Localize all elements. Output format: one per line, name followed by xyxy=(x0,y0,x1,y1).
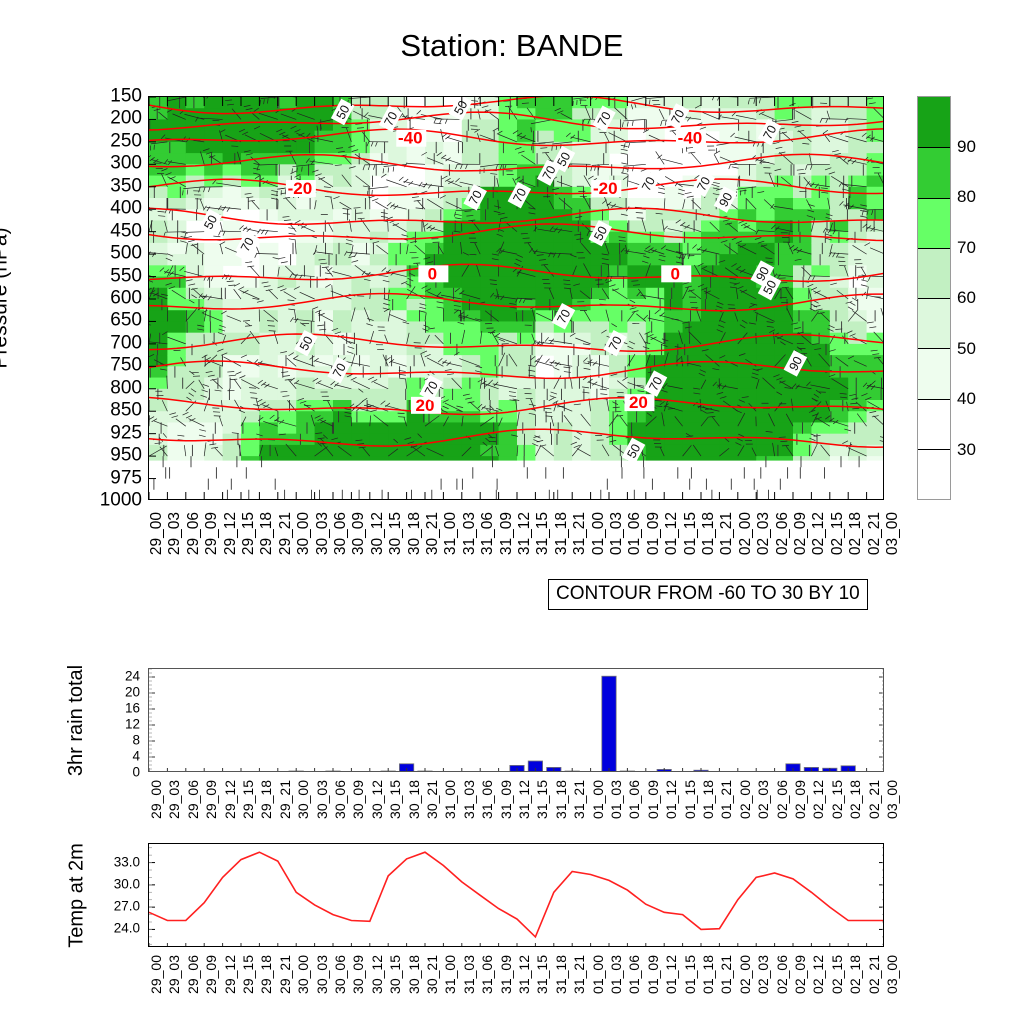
time-tick: 02_15 xyxy=(829,512,847,555)
pressure-tick-labels: 1502002503003504004505005506006507007508… xyxy=(0,96,142,500)
time-tick: 31_09 xyxy=(498,780,514,819)
time-tick: 02_06 xyxy=(774,780,790,819)
rain-tick: 20 xyxy=(125,685,140,700)
meteogram-page: Station: BANDE Pressure (hPa) 1502002503… xyxy=(0,0,1024,1024)
time-tick: 29_06 xyxy=(185,512,203,555)
time-tick: 31_12 xyxy=(516,780,532,819)
time-tick: 02_21 xyxy=(866,512,884,555)
time-tick: 02_03 xyxy=(755,955,771,994)
time-tick: 02_21 xyxy=(866,780,882,819)
time-tick: 31_18 xyxy=(553,512,571,555)
svg-text:0: 0 xyxy=(428,264,437,283)
rain-tick: 0 xyxy=(132,765,140,780)
colorbar-tick: 40 xyxy=(957,389,976,409)
pressure-tick: 200 xyxy=(110,109,142,128)
temp-tick-labels: 24.027.030.033.0 xyxy=(80,843,144,947)
colorbar-tick: 80 xyxy=(957,187,976,207)
time-tick: 31_09 xyxy=(498,512,516,555)
profile-time-axis-labels: 29_0029_0329_0629_0929_1229_1529_1829_21… xyxy=(148,508,884,588)
colorbar-cell xyxy=(918,449,950,499)
time-tick: 29_18 xyxy=(258,512,276,555)
time-tick: 02_12 xyxy=(810,780,826,819)
colorbar-cell xyxy=(918,97,950,147)
time-tick: 01_15 xyxy=(682,512,700,555)
svg-text:0: 0 xyxy=(671,264,680,283)
pressure-tick: 550 xyxy=(110,266,142,285)
time-tick: 29_00 xyxy=(148,512,166,555)
time-tick: 29_06 xyxy=(185,780,201,819)
time-tick: 30_15 xyxy=(387,780,403,819)
rain-tick: 12 xyxy=(125,717,140,732)
time-tick: 29_09 xyxy=(203,512,221,555)
time-tick: 30_03 xyxy=(314,955,330,994)
time-tick: 01_09 xyxy=(645,512,663,555)
humidity-colorbar xyxy=(917,96,951,500)
temp-plot-frame xyxy=(148,843,884,947)
time-tick: 02_12 xyxy=(810,512,828,555)
colorbar-tick: 70 xyxy=(957,238,976,258)
time-tick: 31_06 xyxy=(479,780,495,819)
time-tick: 29_12 xyxy=(222,955,238,994)
time-tick: 31_00 xyxy=(442,512,460,555)
colorbar-tick: 50 xyxy=(957,339,976,359)
pressure-tick: 700 xyxy=(110,333,142,352)
time-tick: 30_15 xyxy=(387,955,403,994)
pressure-tick: 150 xyxy=(110,87,142,106)
pressure-tick: 600 xyxy=(110,289,142,308)
time-tick: 02_12 xyxy=(810,955,826,994)
time-tick: 30_09 xyxy=(350,780,366,819)
temp-tick: 24.0 xyxy=(114,921,140,936)
pressure-tick: 350 xyxy=(110,176,142,195)
time-tick: 30_06 xyxy=(332,512,350,555)
time-tick: 01_12 xyxy=(663,512,681,555)
time-tick: 01_03 xyxy=(608,780,624,819)
pressure-tick: 1000 xyxy=(100,491,142,510)
time-tick: 31_00 xyxy=(442,780,458,819)
time-tick: 30_21 xyxy=(424,512,442,555)
svg-text:20: 20 xyxy=(629,393,648,412)
temp-tick: 33.0 xyxy=(114,854,140,869)
time-tick: 30_18 xyxy=(406,955,422,994)
time-tick: 29_18 xyxy=(258,780,274,819)
time-tick: 02_15 xyxy=(829,780,845,819)
time-tick: 01_21 xyxy=(718,780,734,819)
time-tick: 02_18 xyxy=(847,955,863,994)
time-tick: 02_06 xyxy=(774,512,792,555)
temp-panel xyxy=(148,843,884,947)
colorbar-cell xyxy=(918,399,950,449)
colorbar-cell xyxy=(918,198,950,248)
temp-chart-svg xyxy=(149,844,884,947)
time-tick: 30_18 xyxy=(406,780,422,819)
time-tick: 02_09 xyxy=(792,512,810,555)
time-tick: 01_06 xyxy=(626,512,644,555)
time-tick: 30_18 xyxy=(406,512,424,555)
profile-chart-svg: -40-40-20-200020205050505050505050507070… xyxy=(149,97,884,500)
time-tick: 01_09 xyxy=(645,780,661,819)
time-tick: 29_00 xyxy=(148,955,164,994)
time-tick: 02_03 xyxy=(755,512,773,555)
pressure-tick: 850 xyxy=(110,401,142,420)
time-tick: 31_06 xyxy=(479,512,497,555)
time-tick: 30_00 xyxy=(295,780,311,819)
time-tick: 29_03 xyxy=(166,955,182,994)
time-tick: 02_18 xyxy=(847,780,863,819)
profile-plot-frame: -40-40-20-200020205050505050505050507070… xyxy=(148,96,884,500)
pressure-tick: 450 xyxy=(110,221,142,240)
pressure-tick: 300 xyxy=(110,154,142,173)
time-tick: 30_06 xyxy=(332,780,348,819)
pressure-tick: 975 xyxy=(110,468,142,487)
time-tick: 02_00 xyxy=(737,955,753,994)
time-tick: 29_15 xyxy=(240,512,258,555)
time-tick: 31_12 xyxy=(516,955,532,994)
time-tick: 01_21 xyxy=(718,955,734,994)
time-tick: 31_15 xyxy=(534,512,552,555)
time-tick: 01_15 xyxy=(682,955,698,994)
time-tick: 29_15 xyxy=(240,955,256,994)
time-tick: 31_21 xyxy=(571,512,589,555)
rain-tick: 24 xyxy=(125,669,140,684)
colorbar-cell xyxy=(918,147,950,197)
time-tick: 31_21 xyxy=(571,780,587,819)
time-tick: 31_03 xyxy=(461,780,477,819)
colorbar-tick: 30 xyxy=(957,440,976,460)
pressure-tick: 250 xyxy=(110,131,142,150)
time-tick: 31_18 xyxy=(553,955,569,994)
time-tick: 30_09 xyxy=(350,512,368,555)
time-tick: 29_00 xyxy=(148,780,164,819)
rain-time-axis-labels: 29_0029_0329_0629_0929_1229_1529_1829_21… xyxy=(148,776,884,838)
rain-panel xyxy=(148,668,884,772)
colorbar-cell xyxy=(918,248,950,298)
temp-tick: 30.0 xyxy=(114,876,140,891)
time-tick: 31_03 xyxy=(461,955,477,994)
time-tick: 30_09 xyxy=(350,955,366,994)
time-tick: 30_12 xyxy=(369,955,385,994)
page-title: Station: BANDE xyxy=(0,28,1024,64)
time-tick: 29_18 xyxy=(258,955,274,994)
time-tick: 29_12 xyxy=(222,780,238,819)
time-tick: 01_06 xyxy=(626,780,642,819)
time-tick: 30_21 xyxy=(424,780,440,819)
time-tick: 02_21 xyxy=(866,955,882,994)
rain-tick: 4 xyxy=(132,749,140,764)
time-tick: 01_03 xyxy=(608,955,624,994)
time-tick: 01_18 xyxy=(700,512,718,555)
time-tick: 30_00 xyxy=(295,955,311,994)
time-tick: 29_09 xyxy=(203,780,219,819)
time-tick: 02_09 xyxy=(792,780,808,819)
colorbar-tick: 60 xyxy=(957,288,976,308)
time-tick: 29_21 xyxy=(277,955,293,994)
time-tick: 29_06 xyxy=(185,955,201,994)
svg-text:-20: -20 xyxy=(288,179,313,198)
time-tick: 03_00 xyxy=(884,780,900,819)
time-tick: 29_03 xyxy=(166,512,184,555)
time-tick: 29_03 xyxy=(166,780,182,819)
rain-tick: 8 xyxy=(132,733,140,748)
time-tick: 02_00 xyxy=(737,780,753,819)
time-tick: 30_12 xyxy=(369,512,387,555)
time-tick: 30_15 xyxy=(387,512,405,555)
time-tick: 31_21 xyxy=(571,955,587,994)
time-tick: 01_06 xyxy=(626,955,642,994)
time-tick: 31_09 xyxy=(498,955,514,994)
time-tick: 02_15 xyxy=(829,955,845,994)
time-tick: 31_18 xyxy=(553,780,569,819)
time-tick: 03_00 xyxy=(884,955,900,994)
time-tick: 30_06 xyxy=(332,955,348,994)
time-tick: 30_12 xyxy=(369,780,385,819)
time-tick: 31_03 xyxy=(461,512,479,555)
colorbar-cell xyxy=(918,348,950,398)
colorbar-tick: 90 xyxy=(957,137,976,157)
time-tick: 01_03 xyxy=(608,512,626,555)
time-tick: 02_06 xyxy=(774,955,790,994)
time-tick: 03_00 xyxy=(884,512,902,555)
pressure-tick: 800 xyxy=(110,378,142,397)
time-tick: 30_03 xyxy=(314,780,330,819)
time-tick: 01_18 xyxy=(700,955,716,994)
time-tick: 30_03 xyxy=(314,512,332,555)
time-tick: 02_09 xyxy=(792,955,808,994)
time-tick: 31_15 xyxy=(534,955,550,994)
rain-tick-labels: 04812162024 xyxy=(88,668,144,772)
pressure-tick: 650 xyxy=(110,311,142,330)
time-tick: 29_15 xyxy=(240,780,256,819)
rain-chart-svg xyxy=(149,669,884,772)
time-tick: 29_21 xyxy=(277,512,295,555)
colorbar-cell xyxy=(918,298,950,348)
pressure-tick: 400 xyxy=(110,199,142,218)
time-tick: 30_21 xyxy=(424,955,440,994)
time-tick: 29_09 xyxy=(203,955,219,994)
time-tick: 01_21 xyxy=(718,512,736,555)
time-tick: 31_15 xyxy=(534,780,550,819)
time-tick: 01_15 xyxy=(682,780,698,819)
temp-tick: 27.0 xyxy=(114,899,140,914)
time-tick: 01_00 xyxy=(590,955,606,994)
time-tick: 01_09 xyxy=(645,955,661,994)
time-tick: 01_18 xyxy=(700,780,716,819)
time-tick: 01_00 xyxy=(590,780,606,819)
pressure-tick: 500 xyxy=(110,244,142,263)
pressure-tick: 950 xyxy=(110,446,142,465)
vertical-profile-panel: -40-40-20-200020205050505050505050507070… xyxy=(148,96,884,500)
svg-text:-40: -40 xyxy=(398,129,423,148)
rain-tick: 16 xyxy=(125,701,140,716)
temp-time-axis-labels: 29_0029_0329_0629_0929_1229_1529_1829_21… xyxy=(148,951,884,1013)
pressure-tick: 925 xyxy=(110,423,142,442)
time-tick: 02_18 xyxy=(847,512,865,555)
time-tick: 31_00 xyxy=(442,955,458,994)
colorbar-tick-labels: 90807060504030 xyxy=(957,96,1017,500)
time-tick: 31_06 xyxy=(479,955,495,994)
time-tick: 01_00 xyxy=(590,512,608,555)
svg-text:-40: -40 xyxy=(678,129,703,148)
svg-text:-20: -20 xyxy=(593,179,618,198)
time-tick: 29_12 xyxy=(222,512,240,555)
time-tick: 01_12 xyxy=(663,955,679,994)
time-tick: 30_00 xyxy=(295,512,313,555)
time-tick: 02_03 xyxy=(755,780,771,819)
time-tick: 29_21 xyxy=(277,780,293,819)
time-tick: 31_12 xyxy=(516,512,534,555)
contour-note: CONTOUR FROM -60 TO 30 BY 10 xyxy=(548,579,868,610)
rain-plot-frame xyxy=(148,668,884,772)
time-tick: 02_00 xyxy=(737,512,755,555)
pressure-tick: 750 xyxy=(110,356,142,375)
time-tick: 01_12 xyxy=(663,780,679,819)
